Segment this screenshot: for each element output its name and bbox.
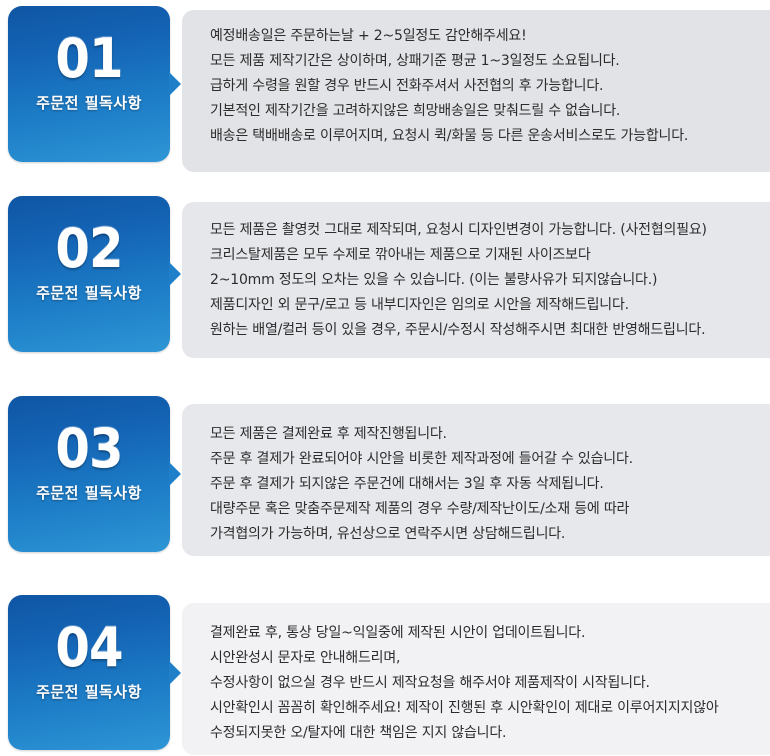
- notice-badge-inner: 02 주문전 필독사항: [8, 196, 170, 352]
- notice-number: 04: [14, 621, 163, 675]
- notice-panel: 모든 제품은 촬영컷 그대로 제작되며, 요청시 디자인변경이 가능합니다. (…: [182, 202, 770, 358]
- notice-line: 제품디자인 외 문구/로고 등 내부디자인은 임의로 시안을 제작해드립니다.: [210, 293, 750, 318]
- notice-badge-inner: 04 주문전 필독사항: [8, 595, 170, 750]
- notice-line: 수정되지못한 오/탈자에 대한 책임은 지지 않습니다.: [210, 721, 750, 746]
- notice-badge-label: 주문전 필독사항: [8, 282, 170, 303]
- notice-badge-label: 주문전 필독사항: [8, 681, 170, 702]
- notice-line: 2~10mm 정도의 오차는 있을 수 있습니다. (이는 불량사유가 되지않습…: [210, 268, 750, 293]
- notice-panel: 예정배송일은 주문하는날 + 2~5일정도 감안해주세요! 모든 제품 제작기간…: [182, 10, 770, 172]
- notice-line: 주문 후 결제가 완료되어야 시안을 비롯한 제작과정에 들어갈 수 있습니다.: [210, 447, 750, 472]
- notice-line: 모든 제품 제작기간은 상이하며, 상패기준 평균 1~3일정도 소요됩니다.: [210, 49, 750, 74]
- notice-line: 배송은 택배배송로 이루어지며, 요청시 퀵/화물 등 다른 운송서비스로도 가…: [210, 124, 750, 149]
- notice-panel: 결제완료 후, 통상 당일~익일중에 제작된 시안이 업데이트됩니다. 시안완성…: [182, 603, 770, 755]
- notice-badge-inner: 03 주문전 필독사항: [8, 396, 170, 552]
- notice-line: 급하게 수령을 원할 경우 반드시 전화주셔서 사전협의 후 가능합니다.: [210, 74, 750, 99]
- notice-badge-02: 02 주문전 필독사항: [8, 196, 170, 352]
- notice-line: 기본적인 제작기간을 고려하지않은 희망배송일은 맞춰드릴 수 없습니다.: [210, 99, 750, 124]
- arrow-right-icon: [169, 262, 181, 286]
- notice-badge-01: 01 주문전 필독사항: [8, 6, 170, 162]
- notice-line: 원하는 배열/컬러 등이 있을 경우, 주문시/수정시 작성해주시면 최대한 반…: [210, 318, 750, 343]
- notice-number: 03: [14, 422, 163, 476]
- notice-panel: 모든 제품은 결제완료 후 제작진행됩니다. 주문 후 결제가 완료되어야 시안…: [182, 404, 770, 556]
- notice-badge-label: 주문전 필독사항: [8, 482, 170, 503]
- notice-line: 예정배송일은 주문하는날 + 2~5일정도 감안해주세요!: [210, 24, 750, 49]
- notice-list: 01 주문전 필독사항 예정배송일은 주문하는날 + 2~5일정도 감안해주세요…: [0, 0, 770, 756]
- arrow-right-icon: [169, 72, 181, 96]
- notice-badge-label: 주문전 필독사항: [8, 92, 170, 113]
- notice-line: 대량주문 혹은 맞춤주문제작 제품의 경우 수량/제작난이도/소재 등에 따라: [210, 497, 750, 522]
- arrow-right-icon: [169, 661, 181, 685]
- notice-line: 크리스탈제품은 모두 수제로 깎아내는 제품으로 기재된 사이즈보다: [210, 243, 750, 268]
- notice-badge-04: 04 주문전 필독사항: [8, 595, 170, 750]
- notice-number: 01: [14, 32, 163, 86]
- arrow-right-icon: [169, 462, 181, 486]
- notice-line: 시안확인시 꼼꼼히 확인해주세요! 제작이 진행된 후 시안확인이 제대로 이루…: [210, 696, 750, 721]
- notice-line: 결제완료 후, 통상 당일~익일중에 제작된 시안이 업데이트됩니다.: [210, 621, 750, 646]
- notice-number: 02: [14, 222, 163, 276]
- notice-badge-inner: 01 주문전 필독사항: [8, 6, 170, 162]
- notice-line: 모든 제품은 촬영컷 그대로 제작되며, 요청시 디자인변경이 가능합니다. (…: [210, 218, 750, 243]
- notice-badge-03: 03 주문전 필독사항: [8, 396, 170, 552]
- notice-line: 수정사항이 없으실 경우 반드시 제작요청을 해주서야 제품제작이 시작됩니다.: [210, 671, 750, 696]
- notice-line: 모든 제품은 결제완료 후 제작진행됩니다.: [210, 422, 750, 447]
- notice-line: 시안완성시 문자로 안내해드리며,: [210, 646, 750, 671]
- notice-line: 가격협의가 가능하며, 유선상으로 연락주시면 상담해드립니다.: [210, 522, 750, 547]
- notice-line: 주문 후 결제가 되지않은 주문건에 대해서는 3일 후 자동 삭제됩니다.: [210, 472, 750, 497]
